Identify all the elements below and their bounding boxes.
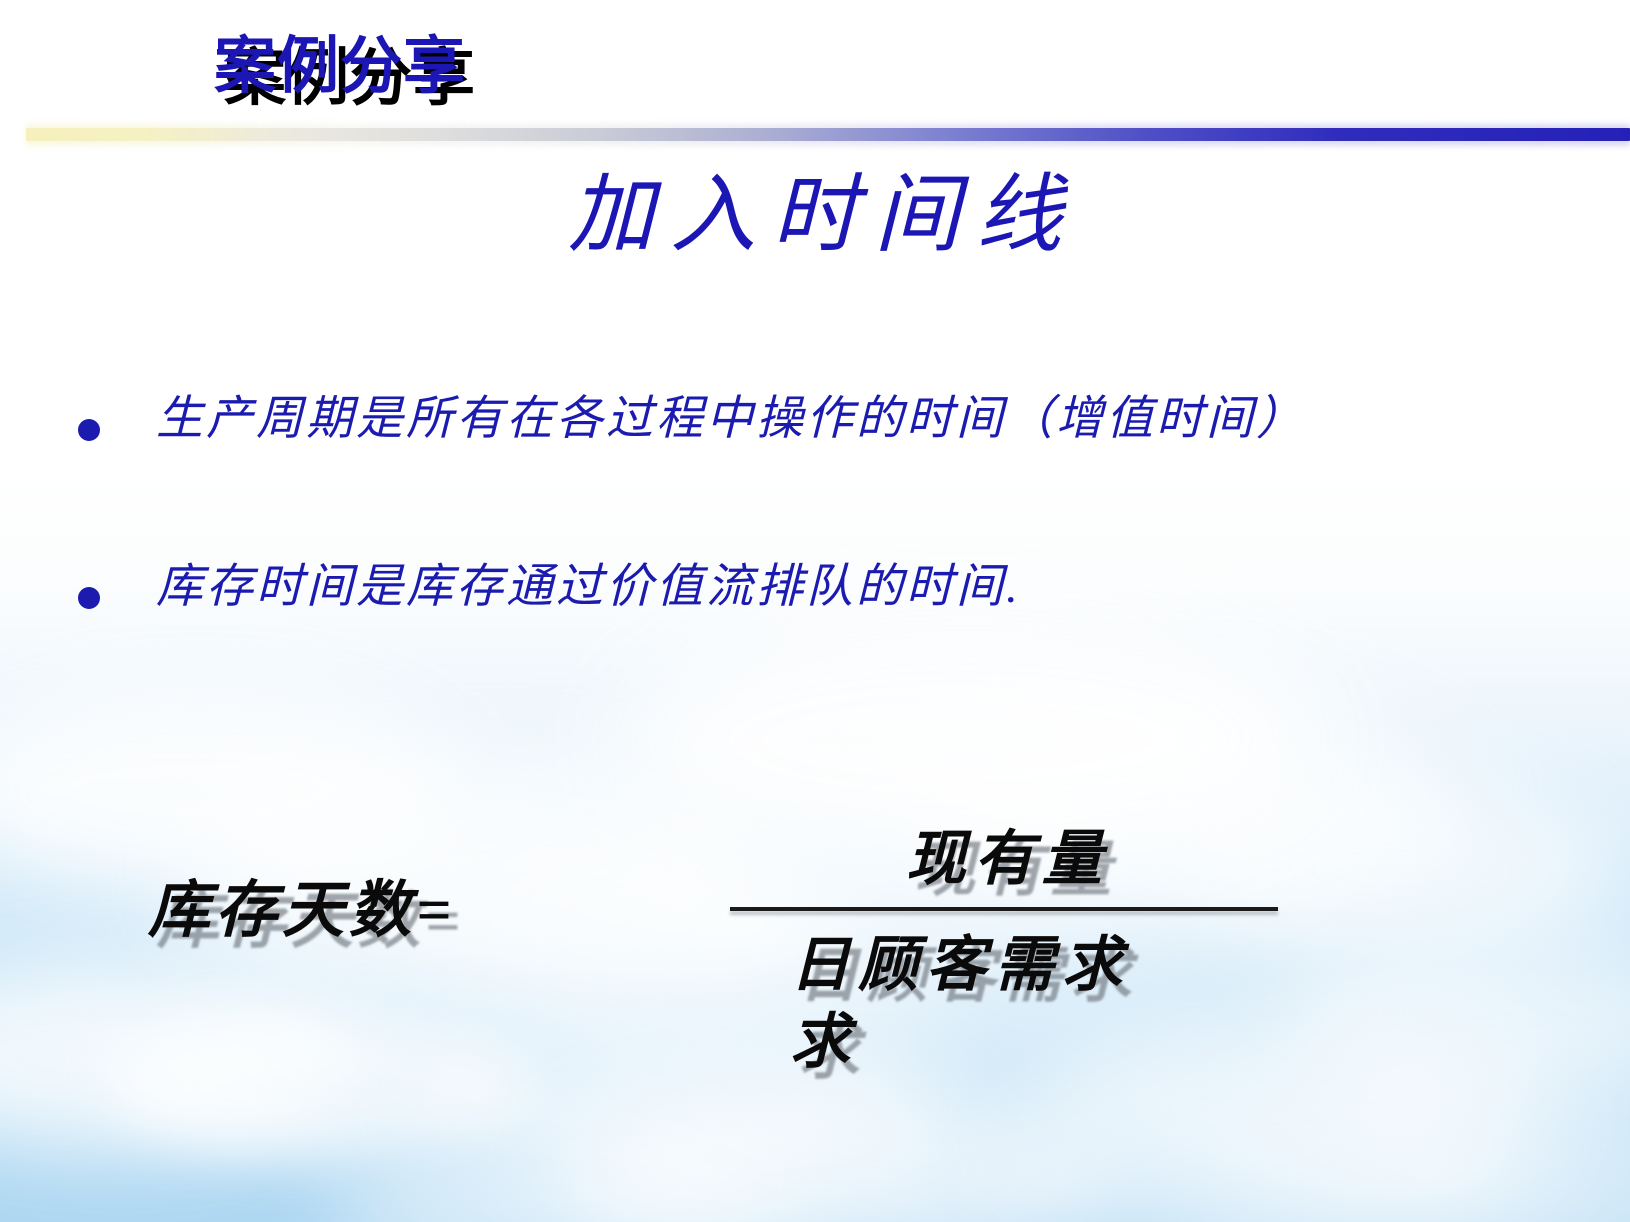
formula-fraction-bar bbox=[730, 907, 1278, 911]
bullet-dot-icon bbox=[78, 419, 100, 441]
bullet-dot-icon bbox=[78, 587, 100, 609]
list-item: 库存时间是库存通过价值流排队的时间. bbox=[0, 560, 1630, 615]
formula-numerator: 现有量 bbox=[730, 828, 1278, 891]
list-item: 生产周期是所有在各过程中操作的时间（增值时间） bbox=[0, 392, 1630, 447]
formula-denominator-line-2: 求 bbox=[730, 1004, 1278, 1081]
list-item-label: 生产周期是所有在各过程中操作的时间（增值时间） bbox=[156, 392, 1630, 447]
formula-denominator-line-1: 日顾客需求 bbox=[730, 927, 1278, 1004]
list-item-label: 库存时间是库存通过价值流排队的时间. bbox=[156, 560, 1630, 615]
bullet-list: 生产周期是所有在各过程中操作的时间（增值时间） 库存时间是库存通过价值流排队的时… bbox=[0, 392, 1630, 616]
formula-fraction: 现有量 日顾客需求 求 bbox=[730, 828, 1278, 1081]
header-title: 案例分享 案例分享 bbox=[214, 36, 466, 98]
formula-left-side: 库存天数= bbox=[148, 880, 456, 942]
slide-canvas: 案例分享 案例分享 加入时间线 生产周期是所有在各过程中操作的时间（增值时间） … bbox=[0, 0, 1630, 1222]
formula-denominator: 日顾客需求 求 bbox=[730, 927, 1278, 1081]
page-title: 加入时间线 bbox=[0, 170, 1630, 260]
header-divider bbox=[26, 128, 1630, 141]
header-title-text: 案例分享 bbox=[214, 32, 466, 101]
